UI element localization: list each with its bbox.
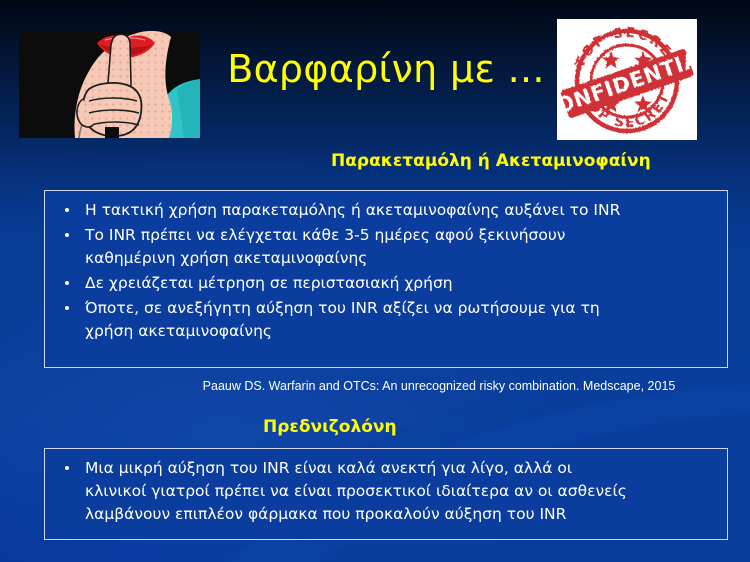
bullet-line: Μια μικρή αύξηση του INR είναι καλά ανεκ…: [85, 457, 717, 480]
page-title: Βαρφαρίνη με ...: [216, 46, 556, 92]
bullet-dot-icon: [65, 306, 69, 310]
top-secret-confidential-stamp-image: TOP SECRET TOP SECRET CONFIDENTIAL: [557, 19, 697, 140]
section-heading-paracetamol: Παρακεταμόλη ή Ακεταμινοφαίνη: [331, 151, 651, 171]
bullet-line: κλινικοί γιατροί πρέπει να είναι προσεκτ…: [85, 480, 717, 503]
citation-reference: Paauw DS. Warfarin and OTCs: An unrecogn…: [150, 378, 728, 394]
bullet-dot-icon: [65, 208, 69, 212]
bullet-line: Η τακτική χρήση παρακεταμόλης ή ακεταμιν…: [85, 199, 717, 222]
list-item: Όποτε, σε ανεξήγητη αύξηση του INR αξίζε…: [57, 297, 717, 343]
bullet-dot-icon: [65, 233, 69, 237]
content-box-paracetamol: Η τακτική χρήση παρακεταμόλης ή ακεταμιν…: [44, 190, 728, 368]
list-item: Δε χρειάζεται μέτρηση σε περιστασιακή χρ…: [57, 272, 717, 295]
slide-header: Βαρφαρίνη με ... TOP SECRET: [0, 0, 750, 148]
bullet-dot-icon: [65, 281, 69, 285]
bullet-dot-icon: [65, 466, 69, 470]
bullet-line: λαμβάνουν επιπλέον φάρμακα που προκαλούν…: [85, 503, 717, 526]
presentation-slide: Βαρφαρίνη με ... TOP SECRET: [0, 0, 750, 562]
shush-woman-pop-art-image: [19, 31, 200, 138]
bullet-line: χρήση ακεταμινοφαίνης: [85, 320, 717, 343]
bullet-line: καθημέρινη χρήση ακεταμινοφαίνης: [85, 247, 717, 270]
bullet-list-prednisolone: Μια μικρή αύξηση του INR είναι καλά ανεκ…: [57, 457, 717, 526]
list-item: Η τακτική χρήση παρακεταμόλης ή ακεταμιν…: [57, 199, 717, 222]
list-item: Μια μικρή αύξηση του INR είναι καλά ανεκ…: [57, 457, 717, 526]
content-box-prednisolone: Μια μικρή αύξηση του INR είναι καλά ανεκ…: [44, 448, 728, 540]
bullet-line: Δε χρειάζεται μέτρηση σε περιστασιακή χρ…: [85, 272, 717, 295]
bullet-line: Όποτε, σε ανεξήγητη αύξηση του INR αξίζε…: [85, 297, 717, 320]
bullet-line: Το INR πρέπει να ελέγχεται κάθε 3-5 ημέρ…: [85, 224, 717, 247]
section-heading-prednisolone: Πρεδνιζολόνη: [263, 417, 397, 437]
list-item: Το INR πρέπει να ελέγχεται κάθε 3-5 ημέρ…: [57, 224, 717, 270]
bullet-list-paracetamol: Η τακτική χρήση παρακεταμόλης ή ακεταμιν…: [57, 199, 717, 343]
